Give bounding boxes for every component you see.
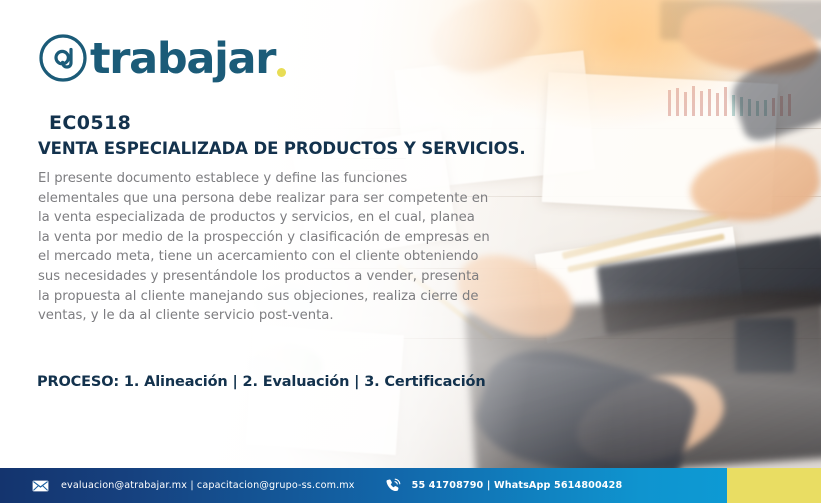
report-bar (668, 90, 671, 116)
logo-wordmark: trabajar (90, 38, 275, 81)
report-bar (716, 93, 719, 116)
report-bar (692, 86, 695, 116)
footer-contact-strip: evaluacion@atrabajar.mx | capacitacion@g… (0, 468, 727, 503)
standard-code: EC0518 (49, 112, 131, 134)
footer-emails[interactable]: evaluacion@atrabajar.mx | capacitacion@g… (61, 480, 355, 491)
phone-call-icon (385, 478, 401, 494)
report-bar (708, 89, 711, 116)
poster-canvas: trabajar EC0518 VENTA ESPECIALIZADA DE P… (0, 0, 821, 503)
report-bar (700, 91, 703, 116)
brand-logo[interactable]: trabajar (38, 31, 286, 85)
notepad-rule (298, 158, 406, 159)
process-steps: PROCESO: 1. Alineación | 2. Evaluación |… (37, 374, 486, 390)
device-screen (735, 318, 795, 373)
page-title: VENTA ESPECIALIZADA DE PRODUCTOS Y SERVI… (38, 139, 526, 158)
logo-dot-icon (277, 68, 286, 77)
paper-sheet (246, 325, 404, 455)
footer-accent-block (727, 468, 821, 503)
description-paragraph: El presente documento establece y define… (38, 169, 490, 326)
footer-phones[interactable]: 55 41708790 | WhatsApp 5614800428 (412, 480, 623, 491)
footer-bar: evaluacion@atrabajar.mx | capacitacion@g… (0, 468, 821, 503)
envelope-icon (32, 480, 49, 492)
at-sign-icon (38, 33, 88, 83)
report-bar (684, 92, 687, 116)
report-bar (724, 87, 727, 116)
report-bar (676, 88, 679, 116)
